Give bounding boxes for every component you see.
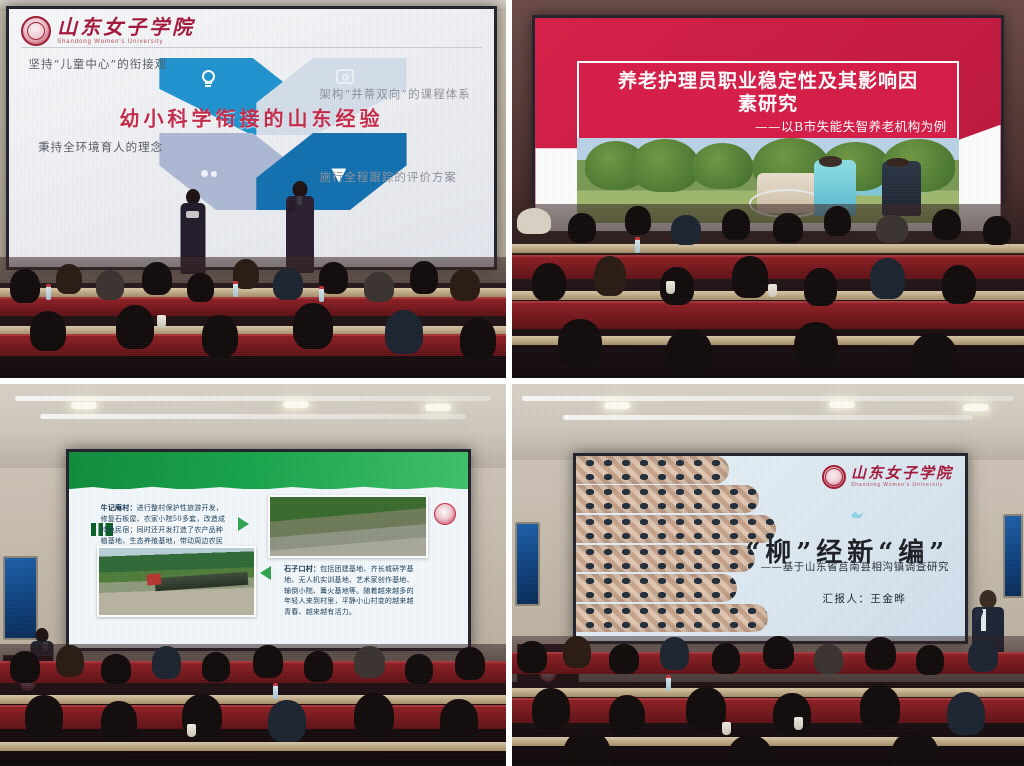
slide1-center-title: 幼小科学衔接的山东经验 xyxy=(119,103,383,132)
university-logo-4: 山东女子学院 Shandong Women's University xyxy=(822,465,953,489)
slide2-subtitle: ——以B市失能失智养老机构为例 xyxy=(589,119,946,135)
audience-area-1 xyxy=(0,257,506,378)
slide2-title-line1: 养老护理员职业稳定性及其影响因 xyxy=(589,70,946,93)
slide1-label-0: 坚持“儿童中心”的衔接观 xyxy=(28,56,167,72)
side-display-panel xyxy=(3,556,38,640)
side-display-panel-left xyxy=(515,522,541,606)
lightbulb-icon xyxy=(200,70,217,87)
logo-divider xyxy=(21,47,482,48)
projection-screen-3: 相关案例 牛记庵村：进行整村保护性旅游开发，修复石板屋、农家小院50多套，改造成… xyxy=(66,449,471,651)
panel-bottom-left: 相关案例 牛记庵村：进行整村保护性旅游开发，修复石板屋、农家小院50多套，改造成… xyxy=(0,381,509,766)
hall-ceiling-4 xyxy=(512,384,1024,460)
university-logo-en-4: Shandong Women's University xyxy=(851,483,953,488)
slide-3: 相关案例 牛记庵村：进行整村保护性旅游开发，修复石板屋、农家小院50多套，改造成… xyxy=(69,452,468,648)
slide-1: 山东女子学院 Shandong Women's University xyxy=(9,9,494,268)
slide1-label-2: 秉持全环境育人的理念 xyxy=(38,139,163,155)
panel-top-left: 山东女子学院 Shandong Women's University xyxy=(0,0,509,381)
university-logo-en: Shandong Women's University xyxy=(57,39,195,45)
arrow-right-icon xyxy=(238,517,249,531)
dove-icon-4 xyxy=(851,511,864,518)
slide3-case-1-name: 牛记庵村： xyxy=(101,503,137,512)
university-logo-cn-4: 山东女子学院 xyxy=(851,466,953,481)
slide3-image-forest xyxy=(268,495,428,558)
projection-screen-4: 山东女子学院 Shandong Women's University “柳”经新… xyxy=(573,453,967,644)
slide3-case-2: 石子口村：包括团建基地、齐长城研学基地、无人机实训基地、艺术家创作基地、输倒小院… xyxy=(284,564,420,618)
university-logo-cn: 山东女子学院 xyxy=(57,17,195,37)
arrow-left-icon xyxy=(260,566,271,580)
audience-area-2 xyxy=(512,204,1024,378)
university-seal-icon xyxy=(21,16,51,46)
slide-4: 山东女子学院 Shandong Women's University “柳”经新… xyxy=(576,456,964,641)
slide3-header xyxy=(69,452,468,489)
panel-top-right: 养老护理员职业稳定性及其影响因 素研究 ——以B市失能失智养老机构为例 xyxy=(509,0,1024,381)
slide1-label-1: 架构“并蒂双向”的课程体系 xyxy=(319,86,470,102)
photo-collage-grid: 山东女子学院 Shandong Women's University xyxy=(0,0,1024,766)
university-seal-icon-4 xyxy=(822,465,846,489)
panel-bottom-right: 山东女子学院 Shandong Women's University “柳”经新… xyxy=(509,381,1024,766)
slide-2: 养老护理员职业稳定性及其影响因 素研究 ——以B市失能失智养老机构为例 xyxy=(535,18,1000,231)
slide3-case-2-name: 石子口村： xyxy=(284,564,320,573)
side-display-panel-right xyxy=(1003,514,1023,598)
slide4-presenter: 汇报人：王金晔 xyxy=(822,591,906,606)
audience-area-3 xyxy=(0,644,506,766)
people-icon xyxy=(201,170,221,183)
slide2-title-box: 养老护理员职业稳定性及其影响因 素研究 ——以B市失能失智养老机构为例 xyxy=(577,61,958,147)
audience-area-4 xyxy=(512,636,1024,766)
university-seal-icon-3 xyxy=(434,503,456,525)
university-logo: 山东女子学院 Shandong Women's University xyxy=(21,16,195,46)
slide4-subtitle: ——基于山东省莒南县相沟镇调查研究 xyxy=(760,559,949,574)
slide2-title-line2: 素研究 xyxy=(589,93,946,116)
projection-screen-2: 养老护理员职业稳定性及其影响因 素研究 ——以B市失能失智养老机构为例 xyxy=(532,15,1003,234)
slide1-label-3: 施行全程跟踪的评价方案 xyxy=(319,169,457,185)
projection-screen-1: 山东女子学院 Shandong Women's University xyxy=(6,6,497,271)
slide3-image-train xyxy=(97,546,257,617)
camera-icon xyxy=(336,69,354,84)
